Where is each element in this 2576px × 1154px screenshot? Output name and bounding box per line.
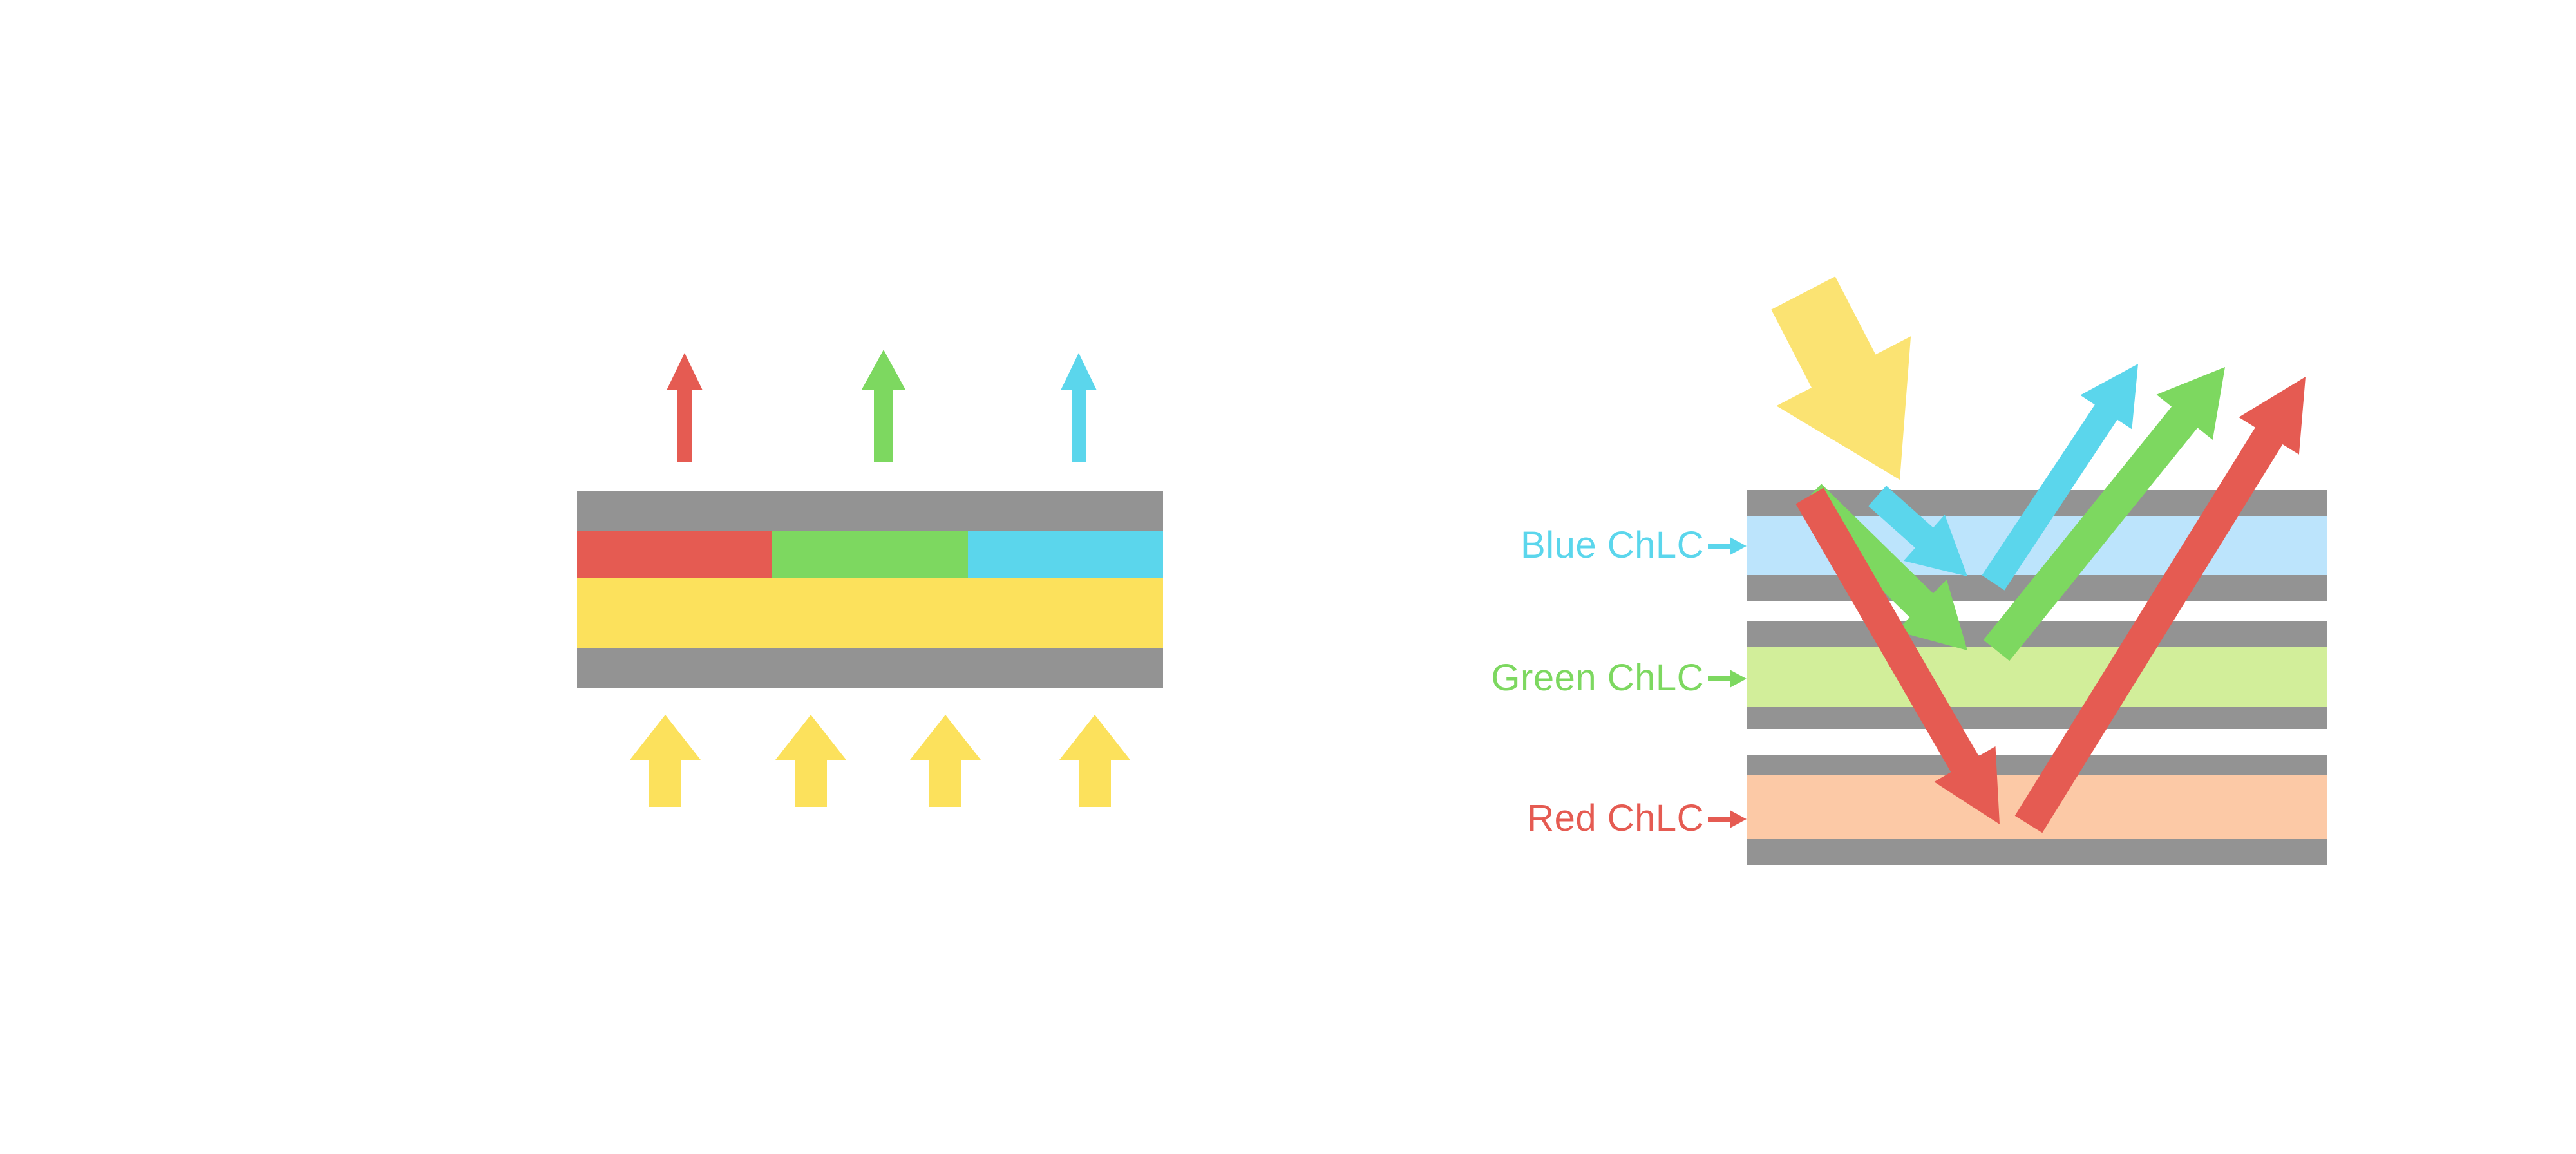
blue-emitted-arrow — [1061, 353, 1097, 462]
left-stack-bottom-electrode — [577, 648, 1163, 688]
label-green-chlc-pointer-head — [1730, 670, 1747, 688]
label-red-chlc-text: Red ChLC — [1527, 797, 1704, 839]
green-emitted-arrow — [862, 350, 905, 462]
red-emitted-arrow — [667, 353, 703, 462]
right-stack-green-cell-bottom-electrode — [1747, 707, 2327, 729]
incident-white-light-arrow — [1771, 276, 1911, 480]
right-stack-red-cell-bottom-electrode — [1747, 839, 2327, 865]
left-stack-red-subpixel — [577, 531, 772, 578]
left-stack-blue-subpixel — [968, 531, 1163, 578]
left-stack-green-subpixel — [772, 531, 968, 578]
backlight-arrow-4 — [1059, 715, 1130, 807]
right-stack-green-chlc-layer — [1747, 647, 2327, 707]
backlight-arrow-1 — [630, 715, 701, 807]
diagram-canvas: Blue ChLCGreen ChLCRed ChLC — [0, 0, 2576, 1154]
left-stack-top-electrode — [577, 491, 1163, 531]
backlight-arrow-3 — [910, 715, 981, 807]
right-stack-red-cell-top-electrode — [1747, 755, 2327, 775]
backlight-arrow-2 — [775, 715, 846, 807]
left-stack-backlight-layer — [577, 578, 1163, 648]
label-green-chlc-text: Green ChLC — [1491, 657, 1704, 699]
chlc-display-illustration: Blue ChLCGreen ChLCRed ChLC — [0, 0, 2576, 1154]
label-blue-chlc-pointer-head — [1730, 537, 1747, 555]
label-blue-chlc-text: Blue ChLC — [1520, 524, 1704, 566]
label-red-chlc-pointer-head — [1730, 810, 1747, 828]
